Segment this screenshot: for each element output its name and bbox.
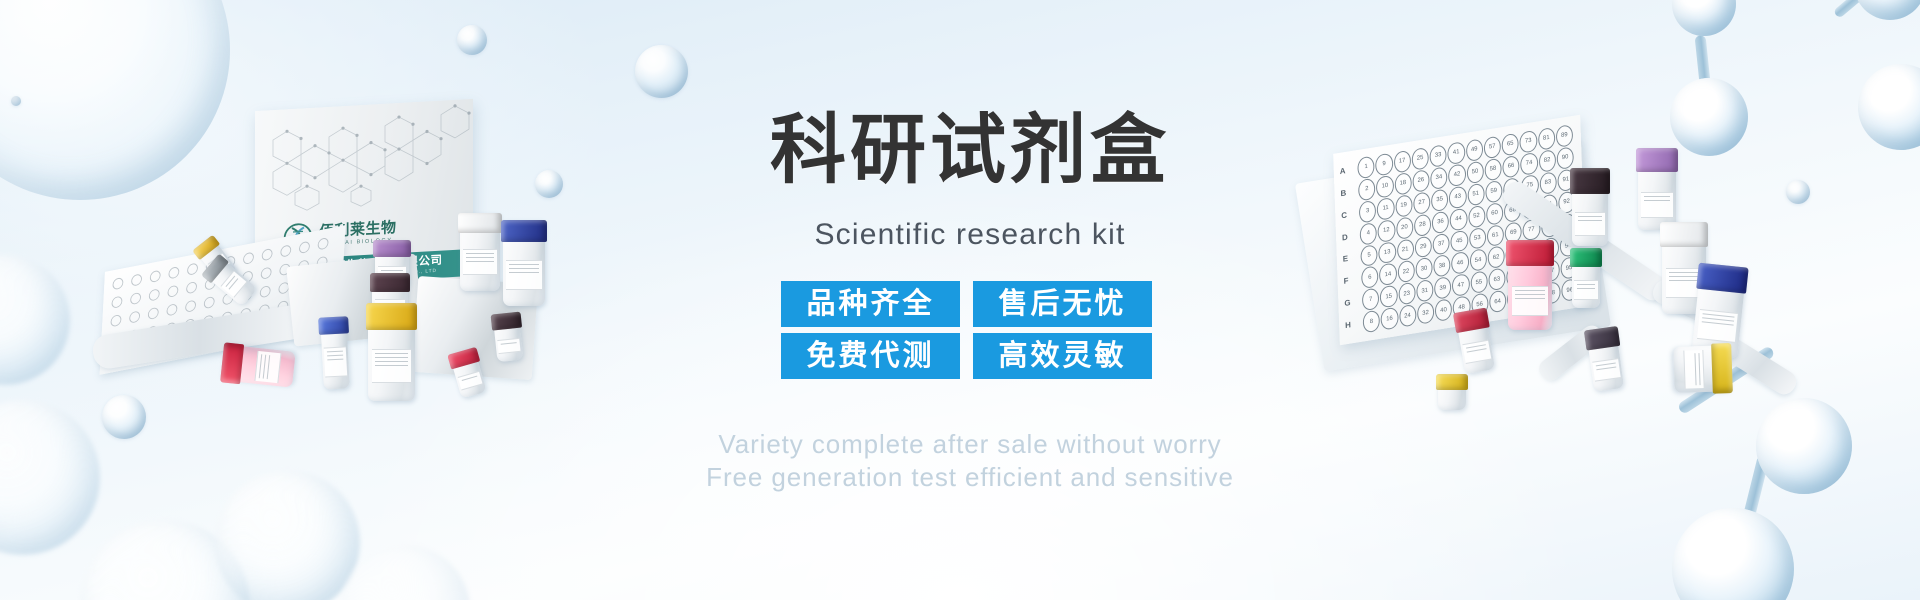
promo-banner: 佰利莱生物 BAILILAI BIOLOGY 上海佰利莱生物科技有限公司 SHA… (0, 0, 1920, 600)
feature-badge-variety[interactable]: 品种齐全 (781, 281, 960, 327)
tagline-line-1: Variety complete after sale without worr… (560, 428, 1380, 461)
feature-badge-free-test[interactable]: 免费代测 (781, 333, 960, 379)
page-title: 科研试剂盒 (640, 108, 1300, 194)
tagline-line-2: Free generation test efficient and sensi… (560, 461, 1380, 494)
tagline-block: Variety complete after sale without worr… (560, 428, 1380, 494)
banner-text-block: 科研试剂盒 Scientific research kit 品种齐全 售后无忧 … (0, 0, 1920, 600)
feature-badge-sensitive[interactable]: 高效灵敏 (973, 333, 1152, 379)
feature-badge-list: 品种齐全 售后无忧 免费代测 高效灵敏 (781, 281, 1161, 379)
feature-badge-after-sale[interactable]: 售后无忧 (973, 281, 1152, 327)
page-subtitle: Scientific research kit (640, 215, 1300, 255)
